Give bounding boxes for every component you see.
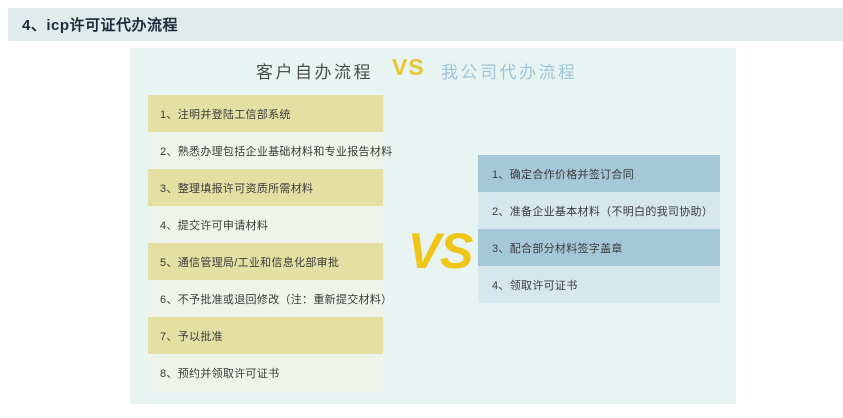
list-item: 5、通信管理局/工业和信息化部审批	[148, 243, 383, 280]
list-item: 7、予以批准	[148, 317, 383, 354]
header-vs-label: VS	[392, 54, 425, 81]
list-item: 1、确定合作价格并签订合同	[478, 155, 720, 192]
section-title-bar: 4、icp许可证代办流程	[8, 8, 843, 41]
list-item: 2、准备企业基本材料（不明白的我司协助）	[478, 192, 720, 229]
comparison-panel: 客户自办流程 VS 我公司代办流程 1、注明并登陆工信部系统 2、熟悉办理包括企…	[130, 48, 736, 404]
list-item: 4、提交许可申请材料	[148, 206, 383, 243]
panel-header: 客户自办流程 VS 我公司代办流程	[130, 54, 736, 92]
list-item: 1、注明并登陆工信部系统	[148, 95, 383, 132]
header-company-flow-label: 我公司代办流程	[441, 58, 578, 83]
list-item: 4、领取许可证书	[478, 266, 720, 303]
list-item: 3、配合部分材料签字盖章	[478, 229, 720, 266]
list-item: 6、不予批准或退回修改（注：重新提交材料）	[148, 280, 383, 317]
list-item: 3、整理填报许可资质所需材料	[148, 169, 383, 206]
page-title: 4、icp许可证代办流程	[8, 14, 178, 35]
header-customer-flow-label: 客户自办流程	[256, 58, 373, 83]
customer-flow-list: 1、注明并登陆工信部系统 2、熟悉办理包括企业基础材料和专业报告材料 3、整理填…	[148, 95, 383, 391]
company-flow-list: 1、确定合作价格并签订合同 2、准备企业基本材料（不明白的我司协助） 3、配合部…	[478, 155, 720, 303]
list-item: 8、预约并领取许可证书	[148, 354, 383, 391]
versus-divider-label: VS	[395, 226, 485, 276]
list-item: 2、熟悉办理包括企业基础材料和专业报告材料	[148, 132, 383, 169]
